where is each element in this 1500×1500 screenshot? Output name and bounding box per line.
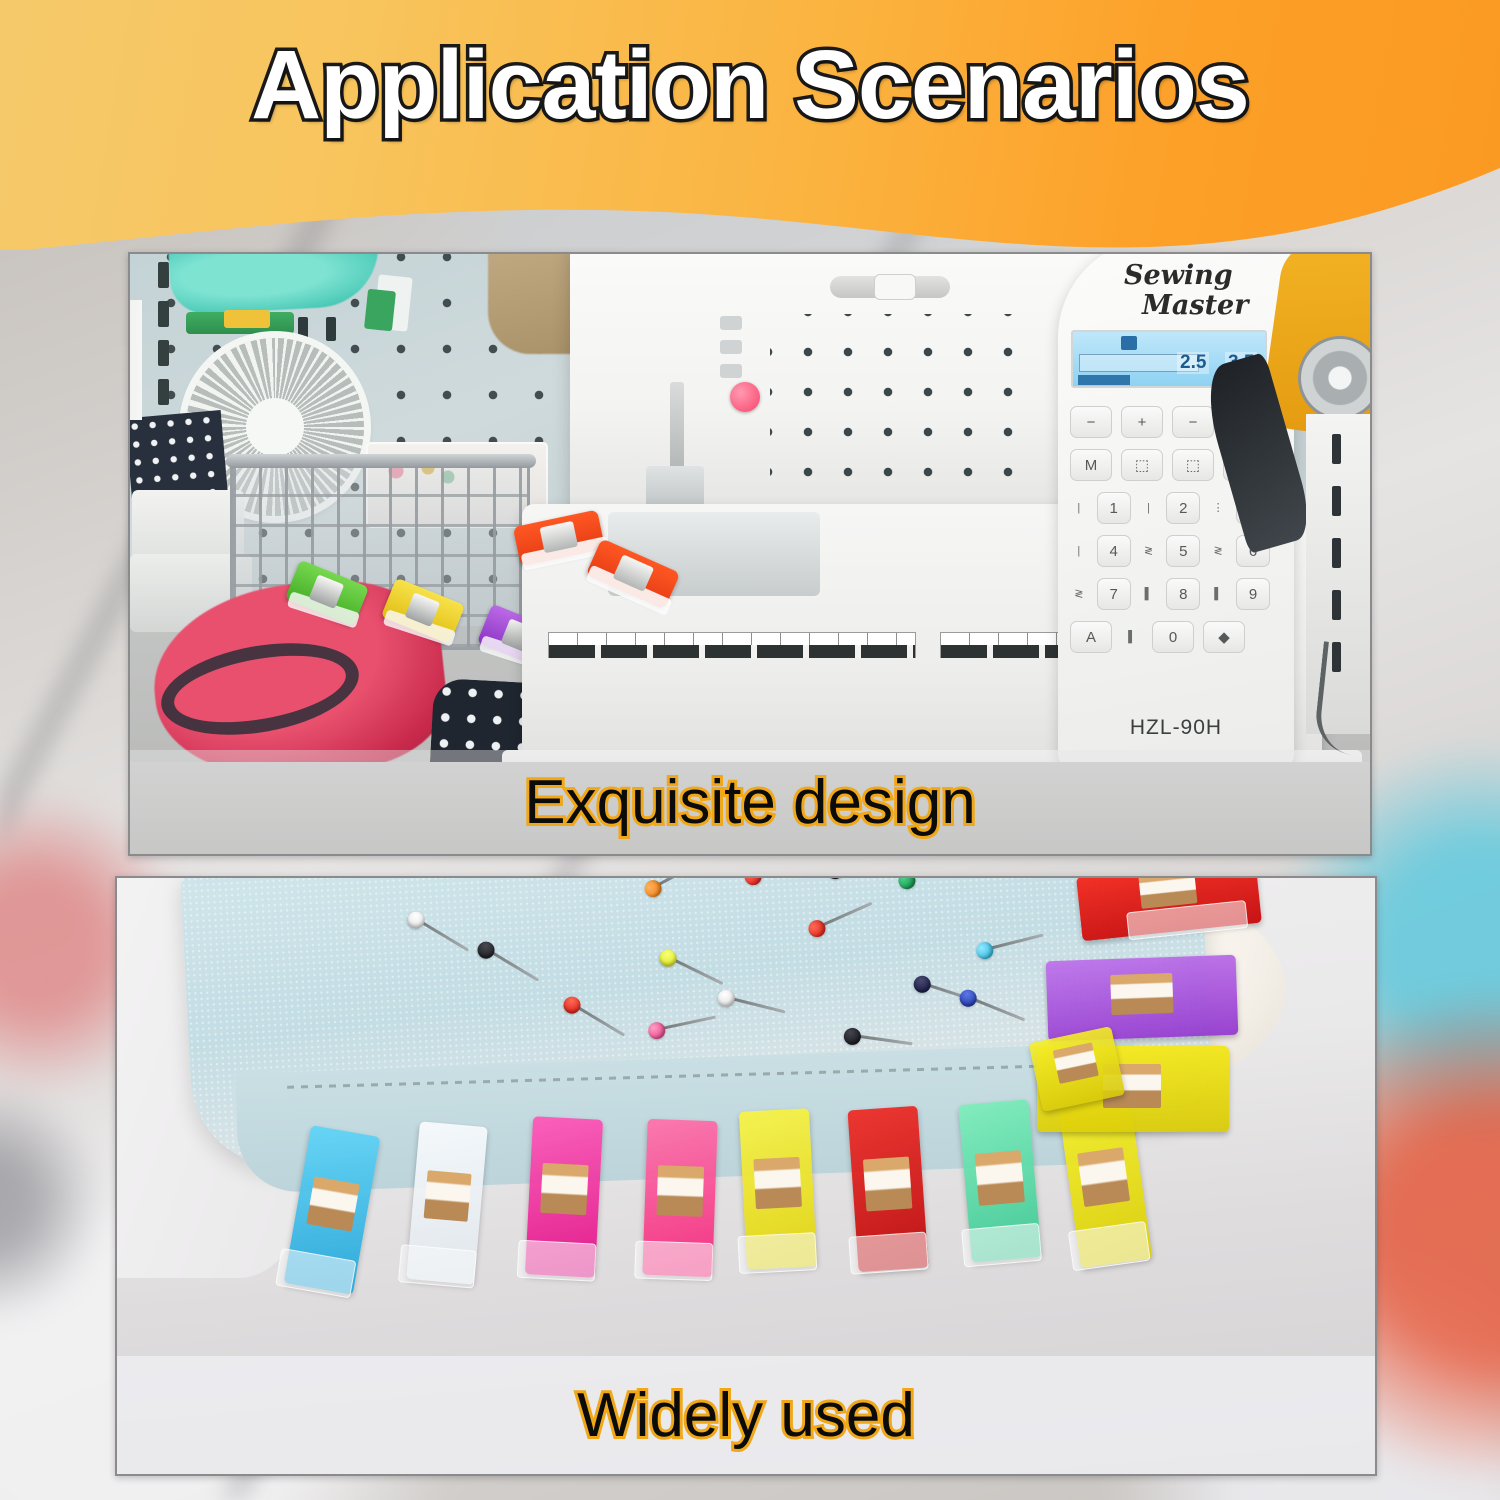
- scenario-photo-bottom: Widely used: [115, 876, 1377, 1476]
- key-8[interactable]: 8: [1166, 578, 1200, 610]
- page-title: Application Scenarios: [0, 0, 1500, 170]
- lcd-progress-bar: [1078, 375, 1130, 385]
- stitch-icon-2: |: [1140, 492, 1158, 524]
- indicator-light-b: [720, 340, 742, 354]
- key-width-minus[interactable]: −: [1070, 406, 1112, 438]
- keypad-row-3: ≷ 7 ▌ 8 ▌ 9: [1070, 578, 1270, 610]
- lcd-mode-icon: [1121, 336, 1137, 350]
- needle-shaft: [670, 382, 684, 478]
- clip-yellow-1: [739, 1108, 817, 1269]
- key-2[interactable]: 2: [1166, 492, 1200, 524]
- pin-red-2: [752, 876, 805, 877]
- clip-purple: [1046, 955, 1239, 1042]
- key-4[interactable]: 4: [1097, 535, 1131, 567]
- wire-basket-rim: [226, 454, 536, 468]
- key-memory[interactable]: M: [1070, 449, 1112, 481]
- key-9[interactable]: 9: [1236, 578, 1270, 610]
- pink-power-button[interactable]: [730, 382, 760, 412]
- caption-band-top: Exquisite design: [130, 750, 1370, 854]
- rotary-cutter-blade: [1298, 336, 1372, 420]
- key-alpha[interactable]: A: [1070, 621, 1112, 653]
- stitch-icon-bar-b: ▌: [1209, 578, 1227, 610]
- stitch-icon-zigzag-a: ≷: [1140, 535, 1158, 567]
- stitch-icon-1: |: [1070, 492, 1088, 524]
- fan-hub: [246, 398, 304, 456]
- caption-top-text: Exquisite design: [524, 767, 976, 838]
- ruler-scale-left: [548, 632, 916, 658]
- key-reverse[interactable]: ◆: [1203, 621, 1245, 653]
- key-5[interactable]: 5: [1166, 535, 1200, 567]
- key-1[interactable]: 1: [1097, 492, 1131, 524]
- key-7[interactable]: 7: [1097, 578, 1131, 610]
- hanging-green-tag: [364, 289, 396, 332]
- machine-side-dial[interactable]: [128, 300, 142, 420]
- machine-brand-line1: Sewing: [1124, 260, 1233, 291]
- indicator-light-a: [720, 316, 742, 330]
- stitch-icon-bar-c: ▌: [1121, 621, 1143, 653]
- clip-pink: [642, 1119, 717, 1277]
- key-width-plus[interactable]: +: [1121, 406, 1163, 438]
- stitch-icon-zigzag-c: ≷: [1070, 578, 1088, 610]
- stitch-icon-3: ⋮: [1209, 492, 1227, 524]
- keypad-row-2: | 4 ≷ 5 ≷ 6: [1070, 535, 1270, 567]
- stitch-icon-bar-a: ▌: [1140, 578, 1158, 610]
- caption-bottom-text: Widely used: [577, 1380, 915, 1451]
- lcd-value-left: 2.5: [1177, 352, 1209, 374]
- yellow-tool-rack: [224, 310, 270, 328]
- clip-clear: [406, 1121, 488, 1284]
- machine-model-label: HZL-90H: [1058, 716, 1294, 740]
- keypad-row-4: A ▌ 0 ◆: [1070, 621, 1270, 653]
- machine-brand-line2: Master: [1142, 290, 1248, 321]
- key-0[interactable]: 0: [1152, 621, 1194, 653]
- key-length-minus[interactable]: −: [1172, 406, 1214, 438]
- scenario-photo-top: Sewing Master 2.5 3.5 − + − + M ⬚: [128, 252, 1372, 856]
- spool-slider-cap: [874, 274, 916, 300]
- stitch-icon-zigzag-b: ≷: [1209, 535, 1227, 567]
- key-mirror-a[interactable]: ⬚: [1121, 449, 1163, 481]
- clip-red: [847, 1106, 928, 1272]
- stitch-icon-4: |: [1070, 535, 1088, 567]
- clip-mint: [958, 1099, 1042, 1262]
- caption-band-bottom: Widely used: [117, 1356, 1375, 1474]
- clip-magenta: [525, 1116, 603, 1277]
- indicator-light-c: [720, 364, 742, 378]
- key-mirror-b[interactable]: ⬚: [1172, 449, 1214, 481]
- machine-arm-panel: [770, 314, 1036, 510]
